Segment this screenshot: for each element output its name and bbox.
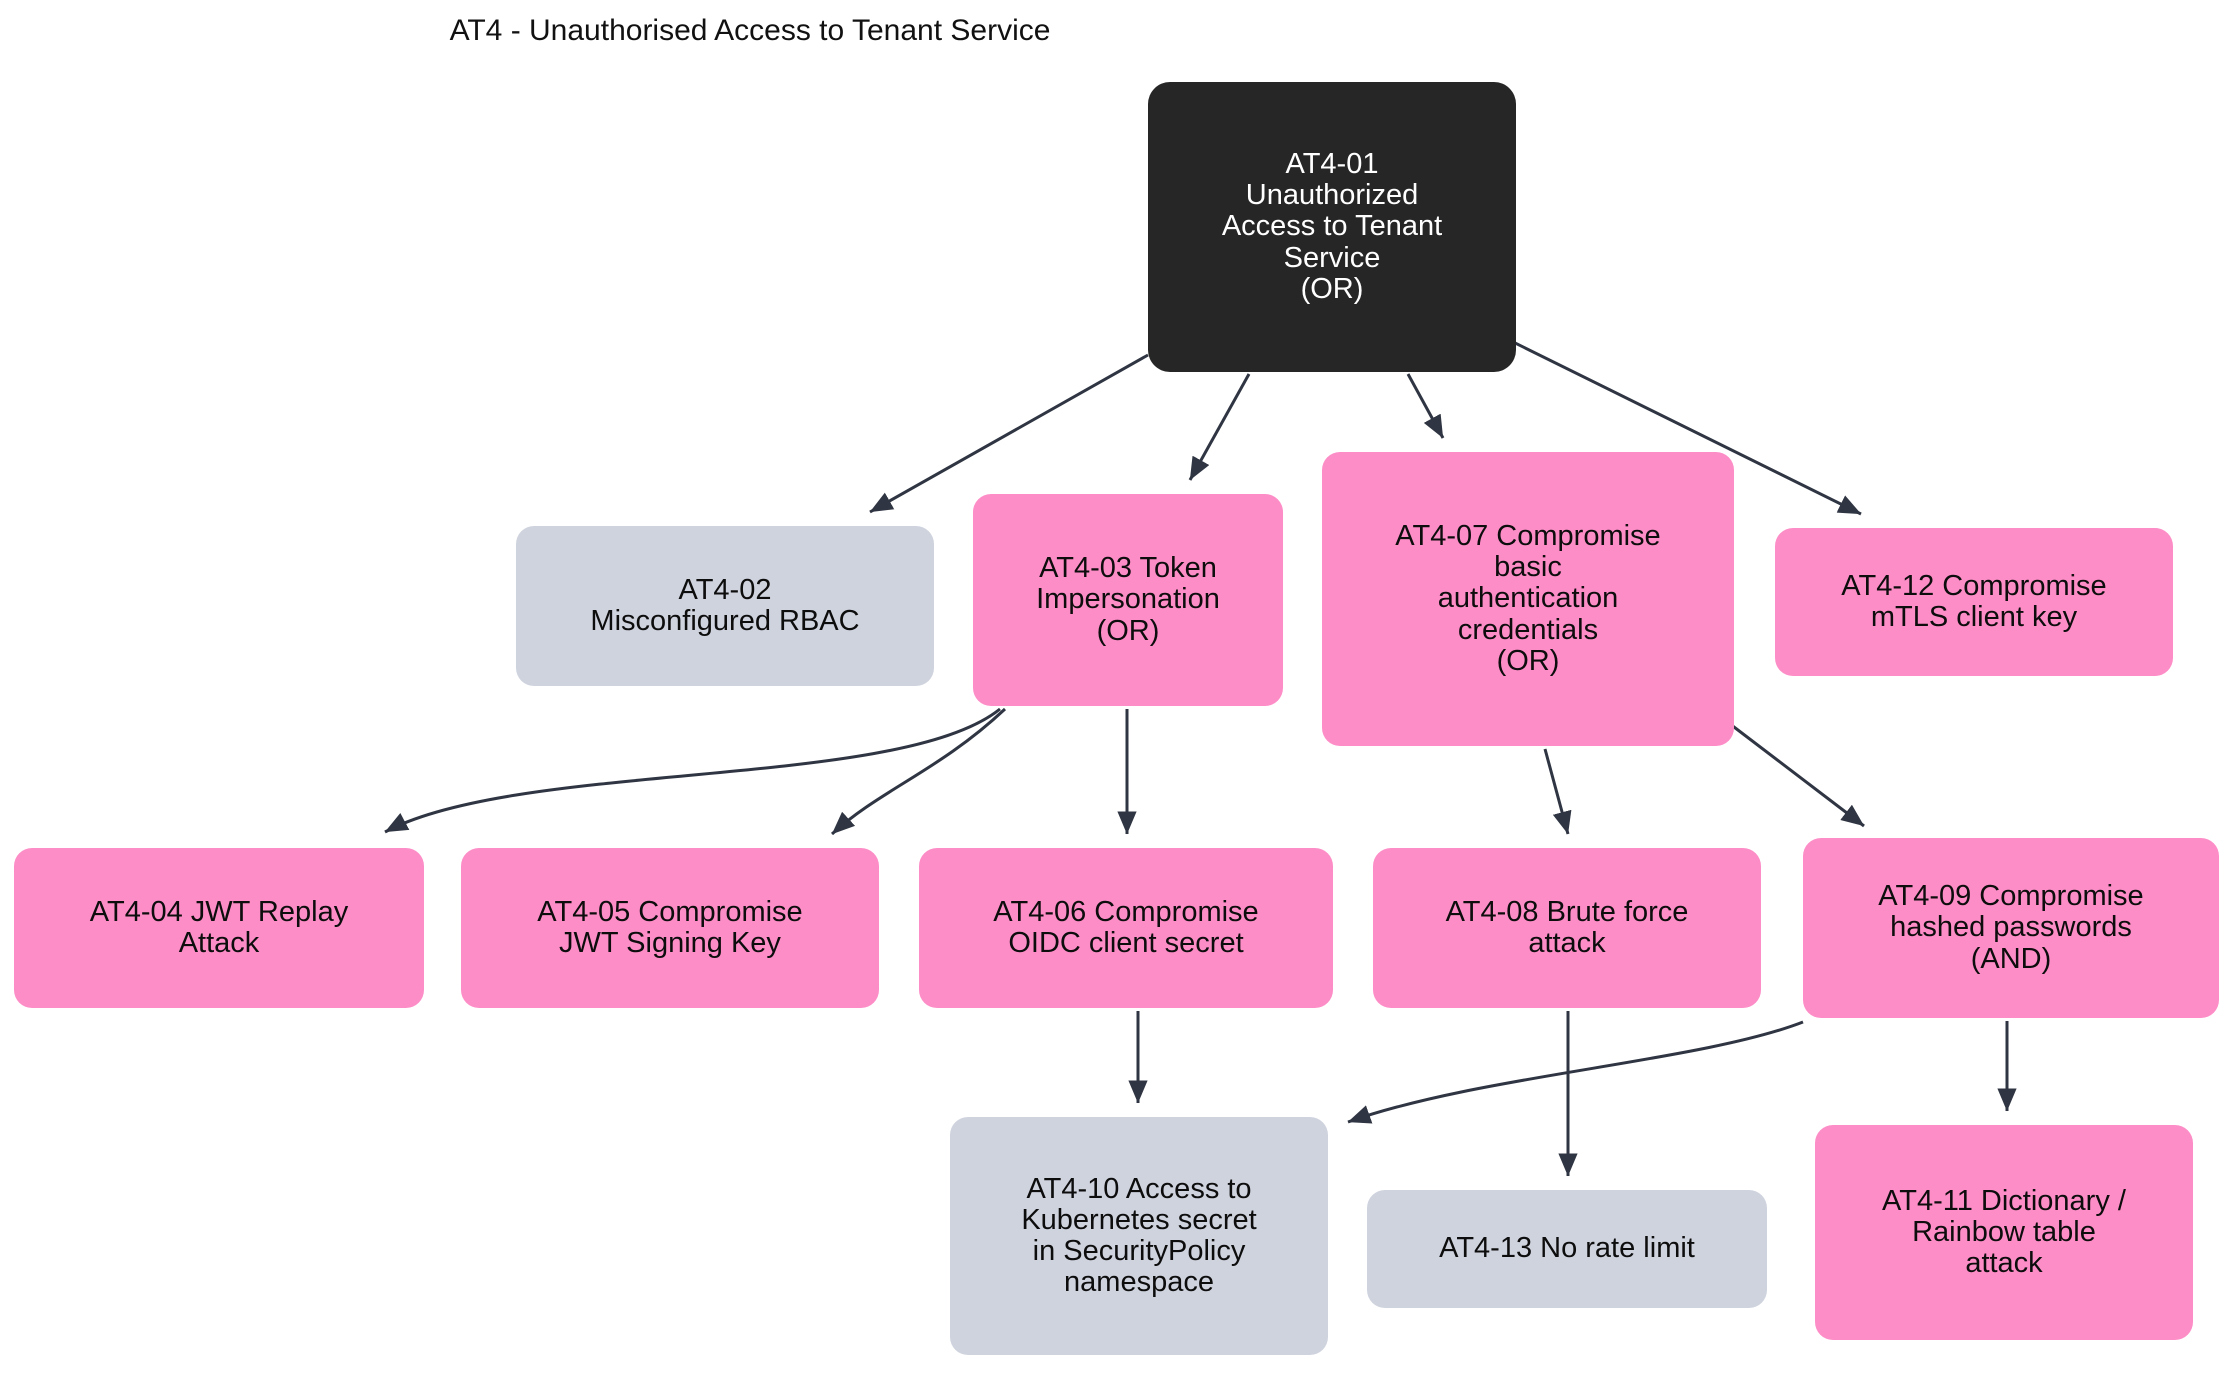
node-label: AT4-09 Compromise hashed passwords (AND) (1813, 881, 2209, 974)
node-at4-04[interactable]: AT4-04 JWT Replay Attack (14, 848, 424, 1008)
node-label: AT4-08 Brute force attack (1383, 897, 1751, 959)
node-at4-13[interactable]: AT4-13 No rate limit (1367, 1190, 1767, 1308)
node-at4-03[interactable]: AT4-03 Token Impersonation (OR) (973, 494, 1283, 706)
node-at4-07[interactable]: AT4-07 Compromise basic authentication c… (1322, 452, 1734, 746)
node-at4-01[interactable]: AT4-01 Unauthorized Access to Tenant Ser… (1148, 82, 1516, 372)
node-label: AT4-03 Token Impersonation (OR) (983, 553, 1273, 646)
diagram-title: AT4 - Unauthorised Access to Tenant Serv… (0, 14, 1500, 48)
node-at4-11[interactable]: AT4-11 Dictionary / Rainbow table attack (1815, 1125, 2193, 1340)
edge-at4-03-to-at4-05 (832, 709, 1005, 834)
edge-at4-01-to-at4-03 (1190, 374, 1249, 480)
node-label: AT4-11 Dictionary / Rainbow table attack (1825, 1186, 2183, 1279)
node-at4-08[interactable]: AT4-08 Brute force attack (1373, 848, 1761, 1008)
node-label: AT4-13 No rate limit (1377, 1233, 1757, 1264)
node-label: AT4-04 JWT Replay Attack (24, 897, 414, 959)
node-label: AT4-01 Unauthorized Access to Tenant Ser… (1158, 149, 1506, 304)
node-at4-02[interactable]: AT4-02 Misconfigured RBAC (516, 526, 934, 686)
node-at4-10[interactable]: AT4-10 Access to Kubernetes secret in Se… (950, 1117, 1328, 1355)
node-label: AT4-06 Compromise OIDC client secret (929, 897, 1323, 959)
attack-tree-diagram: AT4 - Unauthorised Access to Tenant Serv… (0, 0, 2232, 1378)
edge-at4-03-to-at4-04 (385, 709, 1000, 832)
node-label: AT4-02 Misconfigured RBAC (526, 575, 924, 637)
edge-at4-01-to-at4-07 (1408, 374, 1443, 438)
node-label: AT4-12 Compromise mTLS client key (1785, 571, 2163, 633)
node-at4-06[interactable]: AT4-06 Compromise OIDC client secret (919, 848, 1333, 1008)
node-label: AT4-10 Access to Kubernetes secret in Se… (960, 1174, 1318, 1298)
node-at4-12[interactable]: AT4-12 Compromise mTLS client key (1775, 528, 2173, 676)
node-label: AT4-05 Compromise JWT Signing Key (471, 897, 869, 959)
edge-at4-07-to-at4-08 (1545, 749, 1568, 834)
edge-at4-09-to-at4-10 (1348, 1022, 1803, 1122)
node-at4-05[interactable]: AT4-05 Compromise JWT Signing Key (461, 848, 879, 1008)
node-at4-09[interactable]: AT4-09 Compromise hashed passwords (AND) (1803, 838, 2219, 1018)
node-label: AT4-07 Compromise basic authentication c… (1332, 521, 1724, 676)
edge-group (385, 338, 2007, 1176)
edge-at4-01-to-at4-02 (870, 355, 1148, 512)
